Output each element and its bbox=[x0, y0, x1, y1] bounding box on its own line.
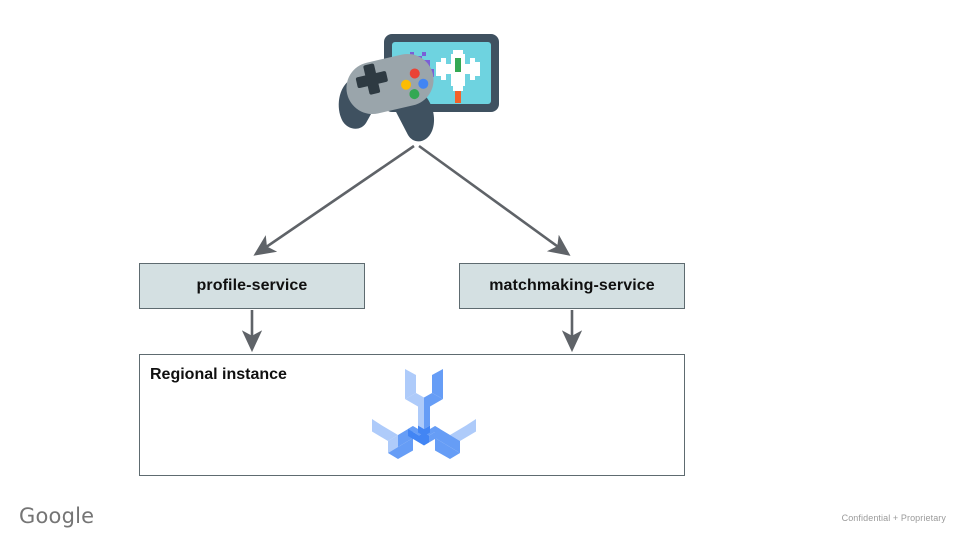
service-box-profile-service[interactable]: profile-service bbox=[139, 263, 365, 309]
slide-canvas: profile-service matchmaking-service Regi… bbox=[0, 0, 960, 540]
regional-instance-container[interactable]: Regional instance bbox=[139, 354, 685, 476]
service-label: matchmaking-service bbox=[489, 277, 655, 295]
regional-instance-title: Regional instance bbox=[150, 366, 287, 384]
arrow-client-to-profile-service bbox=[256, 146, 414, 254]
service-label: profile-service bbox=[197, 277, 308, 295]
google-logo: Google bbox=[19, 506, 94, 527]
cloud-spanner-icon bbox=[364, 363, 484, 468]
gaming-client-icon bbox=[336, 28, 504, 146]
rocket-window bbox=[455, 58, 461, 72]
arrow-client-to-matchmaking-service bbox=[419, 146, 568, 254]
rocket-flame bbox=[455, 91, 461, 103]
gamepad-icon bbox=[339, 49, 439, 142]
confidential-note: Confidential + Proprietary bbox=[842, 513, 946, 523]
service-box-matchmaking-service[interactable]: matchmaking-service bbox=[459, 263, 685, 309]
